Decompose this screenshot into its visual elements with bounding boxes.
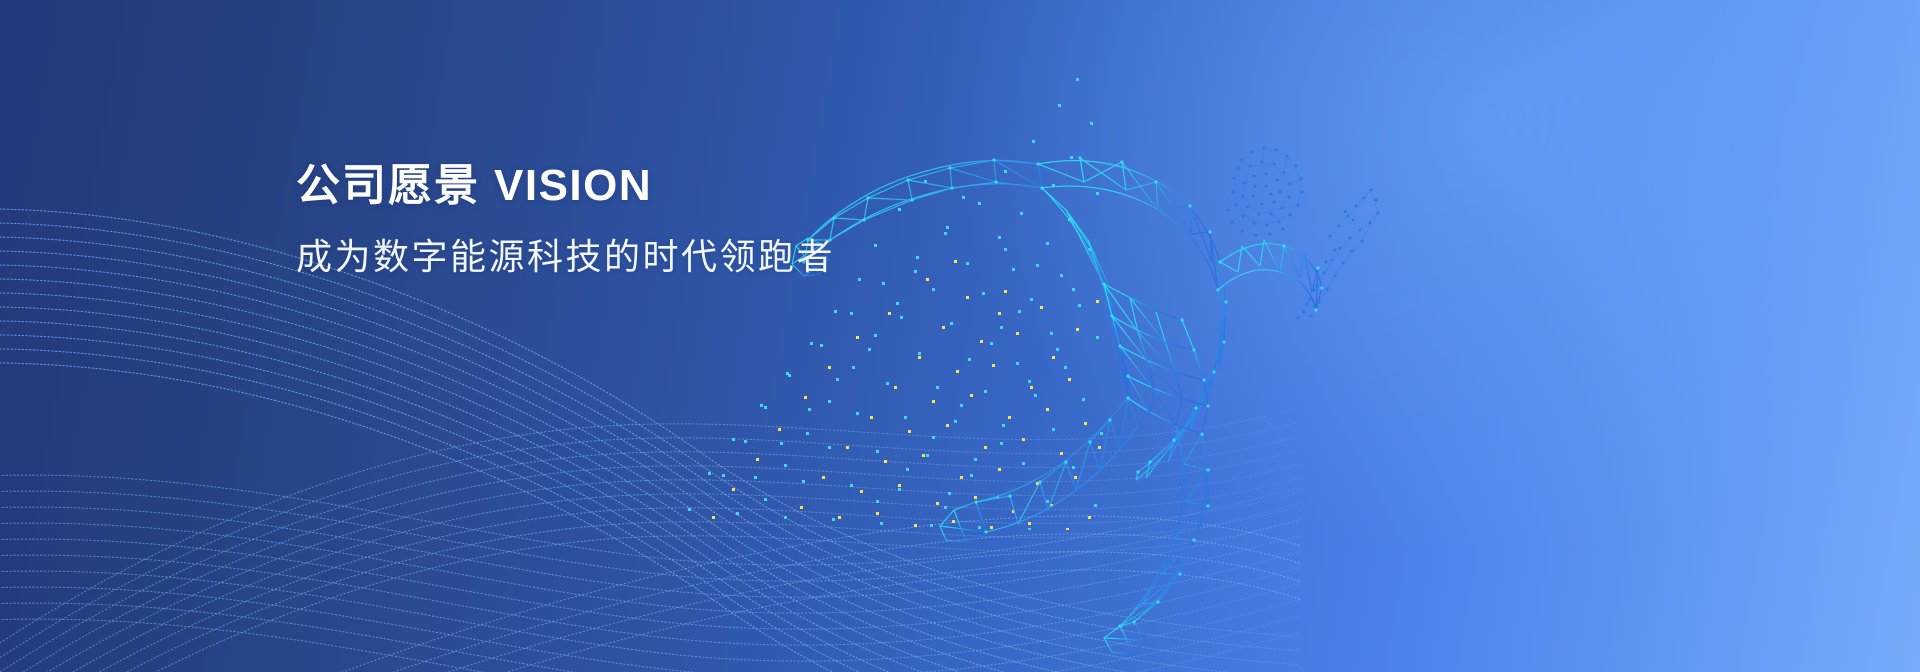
- dispersing-particles: [660, 60, 1120, 530]
- page-title: 公司愿景VISION: [296, 160, 835, 212]
- vision-banner: 公司愿景VISION 成为数字能源科技的时代领跑者: [0, 0, 1920, 672]
- page-subtitle: 成为数字能源科技的时代领跑者: [296, 234, 835, 281]
- page-title-en: VISION: [494, 161, 652, 210]
- running-man-wireframe: [790, 40, 1440, 660]
- page-title-cn: 公司愿景: [296, 161, 480, 210]
- vision-text-block: 公司愿景VISION 成为数字能源科技的时代领跑者: [296, 160, 835, 281]
